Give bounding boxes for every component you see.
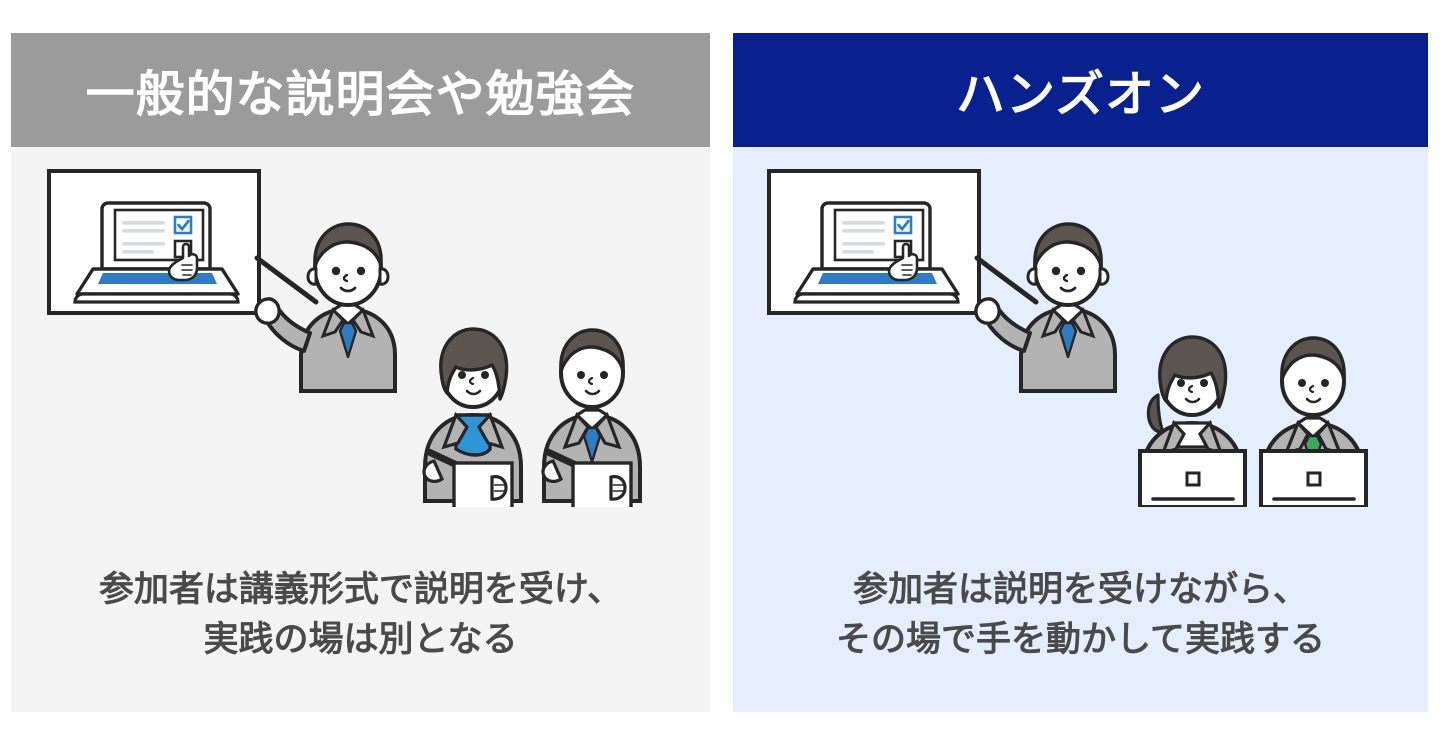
caption-line-1: 参加者は説明を受けながら、	[751, 565, 1410, 616]
panel-hands-on: ハンズオン	[733, 33, 1428, 712]
attendee-man-with-handout	[543, 330, 640, 507]
illustration-lecture-style-scene	[11, 147, 710, 507]
whiteboard	[769, 171, 979, 313]
attendee-man-with-laptop	[1261, 338, 1366, 507]
panel-header-hands-on: ハンズオン	[733, 33, 1428, 147]
caption-general-seminar: 参加者は講義形式で説明を受け、 実践の場は別となる	[11, 565, 710, 667]
attendee-woman-with-handout	[424, 329, 521, 507]
attendee-woman-with-laptop	[1140, 337, 1245, 507]
comparison-figure: 一般的な説明会や勉強会	[0, 0, 1440, 742]
panel-general-seminar: 一般的な説明会や勉強会	[11, 33, 710, 712]
panel-header-general-seminar: 一般的な説明会や勉強会	[11, 33, 710, 147]
whiteboard	[49, 171, 259, 313]
illustration-hands-on-scene	[733, 147, 1428, 507]
caption-line-2: 実践の場は別となる	[29, 615, 692, 666]
presenter-with-pointer	[256, 224, 395, 391]
caption-hands-on: 参加者は説明を受けながら、 その場で手を動かして実践する	[733, 565, 1428, 667]
caption-line-1: 参加者は講義形式で説明を受け、	[29, 565, 692, 616]
presenter-with-pointer	[976, 224, 1115, 391]
caption-line-2: その場で手を動かして実践する	[751, 615, 1410, 666]
panel-body-hands-on: 参加者は説明を受けながら、 その場で手を動かして実践する	[733, 147, 1428, 712]
panel-body-general-seminar: 参加者は講義形式で説明を受け、 実践の場は別となる	[11, 147, 710, 712]
